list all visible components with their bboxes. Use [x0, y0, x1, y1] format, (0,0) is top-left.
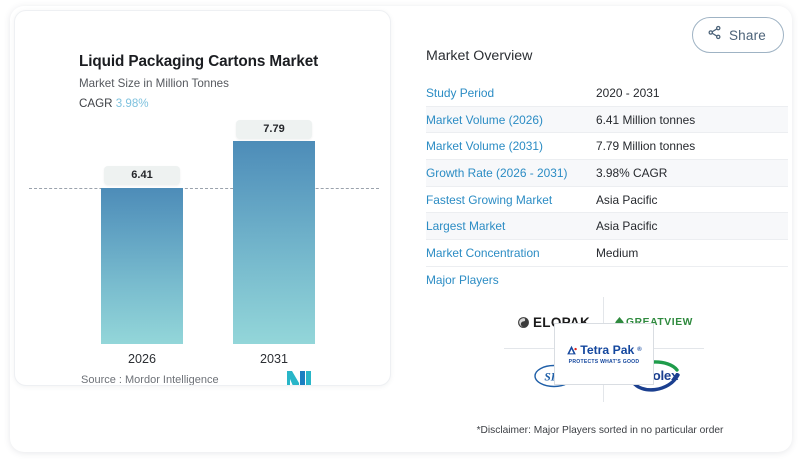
major-players-logo-grid: ELOPAK GREATVIEW SIG [504, 297, 704, 402]
row-value: 6.41 Million tonnes [596, 113, 695, 127]
elopak-mark-icon [517, 316, 530, 329]
major-players-label: Major Players [426, 273, 596, 287]
bar-2031[interactable] [233, 141, 315, 344]
chart-source: Source : Mordor Intelligence [81, 374, 219, 386]
chart-cagr-label: CAGR [79, 97, 113, 110]
player-cell-tetra-pak[interactable]: Tetra Pak® PROTECTS WHAT'S GOOD [554, 323, 654, 385]
disclaimer-text: *Disclaimer: Major Players sorted in no … [412, 425, 788, 436]
row-key: Fastest Growing Market [426, 193, 596, 207]
chart-title: Liquid Packaging Cartons Market [79, 53, 318, 71]
row-value: Asia Pacific [596, 219, 657, 233]
major-players-row: Major Players [426, 267, 788, 294]
row-value: Medium [596, 246, 638, 260]
row-key: Study Period [426, 86, 596, 100]
market-overview-panel: Market Overview Study Period 2020 - 2031… [412, 10, 788, 450]
table-row: Growth Rate (2026 - 2031) 3.98% CAGR [426, 160, 788, 187]
overview-table: Study Period 2020 - 2031 Market Volume (… [426, 80, 788, 294]
table-row: Market Concentration Medium [426, 240, 788, 267]
bar-value-label-2026: 6.41 [104, 166, 180, 185]
table-row: Fastest Growing Market Asia Pacific [426, 187, 788, 214]
table-row: Market Volume (2026) 6.41 Million tonnes [426, 107, 788, 134]
tetra-pak-wordmark: Tetra Pak [580, 343, 634, 357]
row-key: Market Volume (2026) [426, 113, 596, 127]
tetra-pak-mark-icon [566, 345, 577, 356]
table-row: Market Volume (2031) 7.79 Million tonnes [426, 133, 788, 160]
chart-card: Liquid Packaging Cartons Market Market S… [14, 10, 391, 386]
row-key: Market Volume (2031) [426, 139, 596, 153]
table-row: Study Period 2020 - 2031 [426, 80, 788, 107]
chart-cagr-value: 3.98% [116, 97, 149, 110]
row-key: Growth Rate (2026 - 2031) [426, 166, 596, 180]
tetra-pak-tagline: PROTECTS WHAT'S GOOD [566, 359, 641, 365]
table-row: Largest Market Asia Pacific [426, 213, 788, 240]
bar-2026[interactable] [101, 188, 183, 344]
row-value: 3.98% CAGR [596, 166, 667, 180]
mordor-intelligence-logo [287, 371, 311, 386]
market-report-widget: Share Liquid Packaging Cartons Market Ma… [0, 0, 800, 459]
x-axis-tick-2026: 2026 [101, 352, 183, 366]
overview-title: Market Overview [426, 48, 532, 64]
chart-subtitle: Market Size in Million Tonnes [79, 77, 229, 90]
reference-dashed-line [29, 188, 379, 189]
row-key: Market Concentration [426, 246, 596, 260]
share-nodes-icon [707, 25, 722, 45]
row-value: 2020 - 2031 [596, 86, 659, 100]
row-value: Asia Pacific [596, 193, 657, 207]
share-button[interactable]: Share [692, 17, 784, 53]
share-button-label: Share [729, 28, 766, 43]
row-key: Largest Market [426, 219, 596, 233]
chart-cagr: CAGR 3.98% [79, 97, 149, 110]
x-axis-tick-2031: 2031 [233, 352, 315, 366]
bar-chart-plot: 6.41 7.79 2026 2031 [15, 116, 391, 346]
row-value: 7.79 Million tonnes [596, 139, 695, 153]
tetra-pak-logo: Tetra Pak® PROTECTS WHAT'S GOOD [566, 343, 641, 365]
bar-value-label-2031: 7.79 [236, 120, 312, 139]
